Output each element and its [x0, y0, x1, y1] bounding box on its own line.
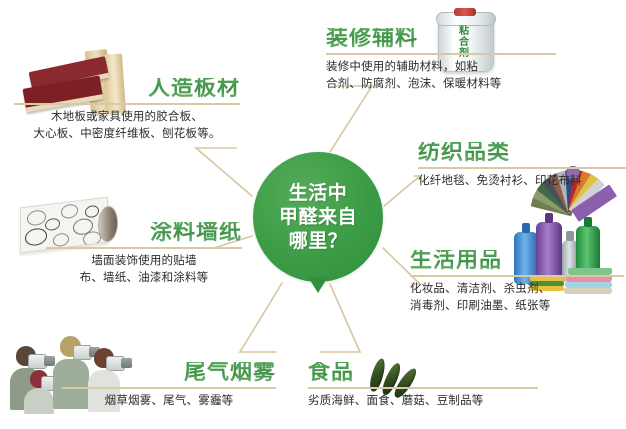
center-line-1: 生活中 [289, 181, 348, 205]
connector-exhaust-smoke [240, 283, 282, 352]
heading-paint-wallpaper: 涂料墙纸 [46, 222, 242, 244]
section-artificial-boards: 人造板材 木地板或家具使用的胶合板、 大心板、中密度纤维板、刨花板等。 [14, 78, 240, 143]
center-question-bubble: 生活中 甲醛来自 哪里？ [253, 152, 383, 282]
heading-household-goods: 生活用品 [410, 250, 624, 272]
section-textiles: 纺织品类 化纤地毯、免烫衬衫、印花布料 [418, 142, 626, 189]
rule-decoration-accessories [326, 53, 556, 55]
section-household-goods: 生活用品 化妆品、清洁剂、杀虫剂、 消毒剂、印刷油墨、纸张等 [410, 250, 624, 315]
desc-textiles: 化纤地毯、免烫衬衫、印花布料 [418, 172, 626, 189]
desc-food: 劣质海鲜、面食、蘑菇、豆制品等 [308, 392, 538, 409]
desc-artificial-boards: 木地板或家具使用的胶合板、 大心板、中密度纤维板、刨花板等。 [14, 108, 240, 143]
rule-paint-wallpaper [46, 247, 242, 249]
desc-exhaust-smoke: 烟草烟雾、尾气、雾霾等 [62, 392, 276, 409]
rule-exhaust-smoke [62, 387, 276, 389]
connector-food [320, 284, 360, 352]
desc-paint-wallpaper: 墙面装饰使用的贴墙 布、墙纸、油漆和涂料等 [46, 252, 242, 287]
section-decoration-accessories: 装修辅料 装修中使用的辅助材料，如粘 合剂、防腐剂、泡沫、保暖材料等 [326, 28, 556, 93]
heading-decoration-accessories: 装修辅料 [326, 28, 556, 50]
rule-textiles [418, 167, 626, 169]
desc-decoration-accessories: 装修中使用的辅助材料，如粘 合剂、防腐剂、泡沫、保暖材料等 [326, 58, 556, 93]
center-line-3: 哪里？ [289, 229, 348, 253]
connector-artificial-boards [196, 148, 252, 196]
section-exhaust-smoke: 尾气烟雾 烟草烟雾、尾气、雾霾等 [62, 362, 276, 409]
formaldehyde-sources-infographic: 生活中 甲醛来自 哪里？ 人造板材 木地板或家具使用的胶合板、 大心板、中密度纤… [0, 0, 626, 429]
center-line-2: 甲醛来自 [279, 205, 357, 229]
center-question-text: 生活中 甲醛来自 哪里？ [253, 152, 383, 282]
heading-artificial-boards: 人造板材 [14, 78, 240, 100]
connector-textiles [384, 176, 420, 206]
desc-household-goods: 化妆品、清洁剂、杀虫剂、 消毒剂、印刷油墨、纸张等 [410, 280, 624, 315]
section-paint-wallpaper: 涂料墙纸 墙面装饰使用的贴墙 布、墙纸、油漆和涂料等 [46, 222, 242, 287]
bucket-cap [454, 8, 476, 16]
rule-food [308, 387, 538, 389]
rule-household-goods [410, 275, 624, 277]
rule-artificial-boards [14, 103, 240, 105]
heading-exhaust-smoke: 尾气烟雾 [62, 362, 276, 384]
connector-decoration-accessories [330, 86, 372, 152]
heading-food: 食品 [308, 362, 538, 384]
section-food: 食品 劣质海鲜、面食、蘑菇、豆制品等 [308, 362, 538, 409]
heading-textiles: 纺织品类 [418, 142, 626, 164]
